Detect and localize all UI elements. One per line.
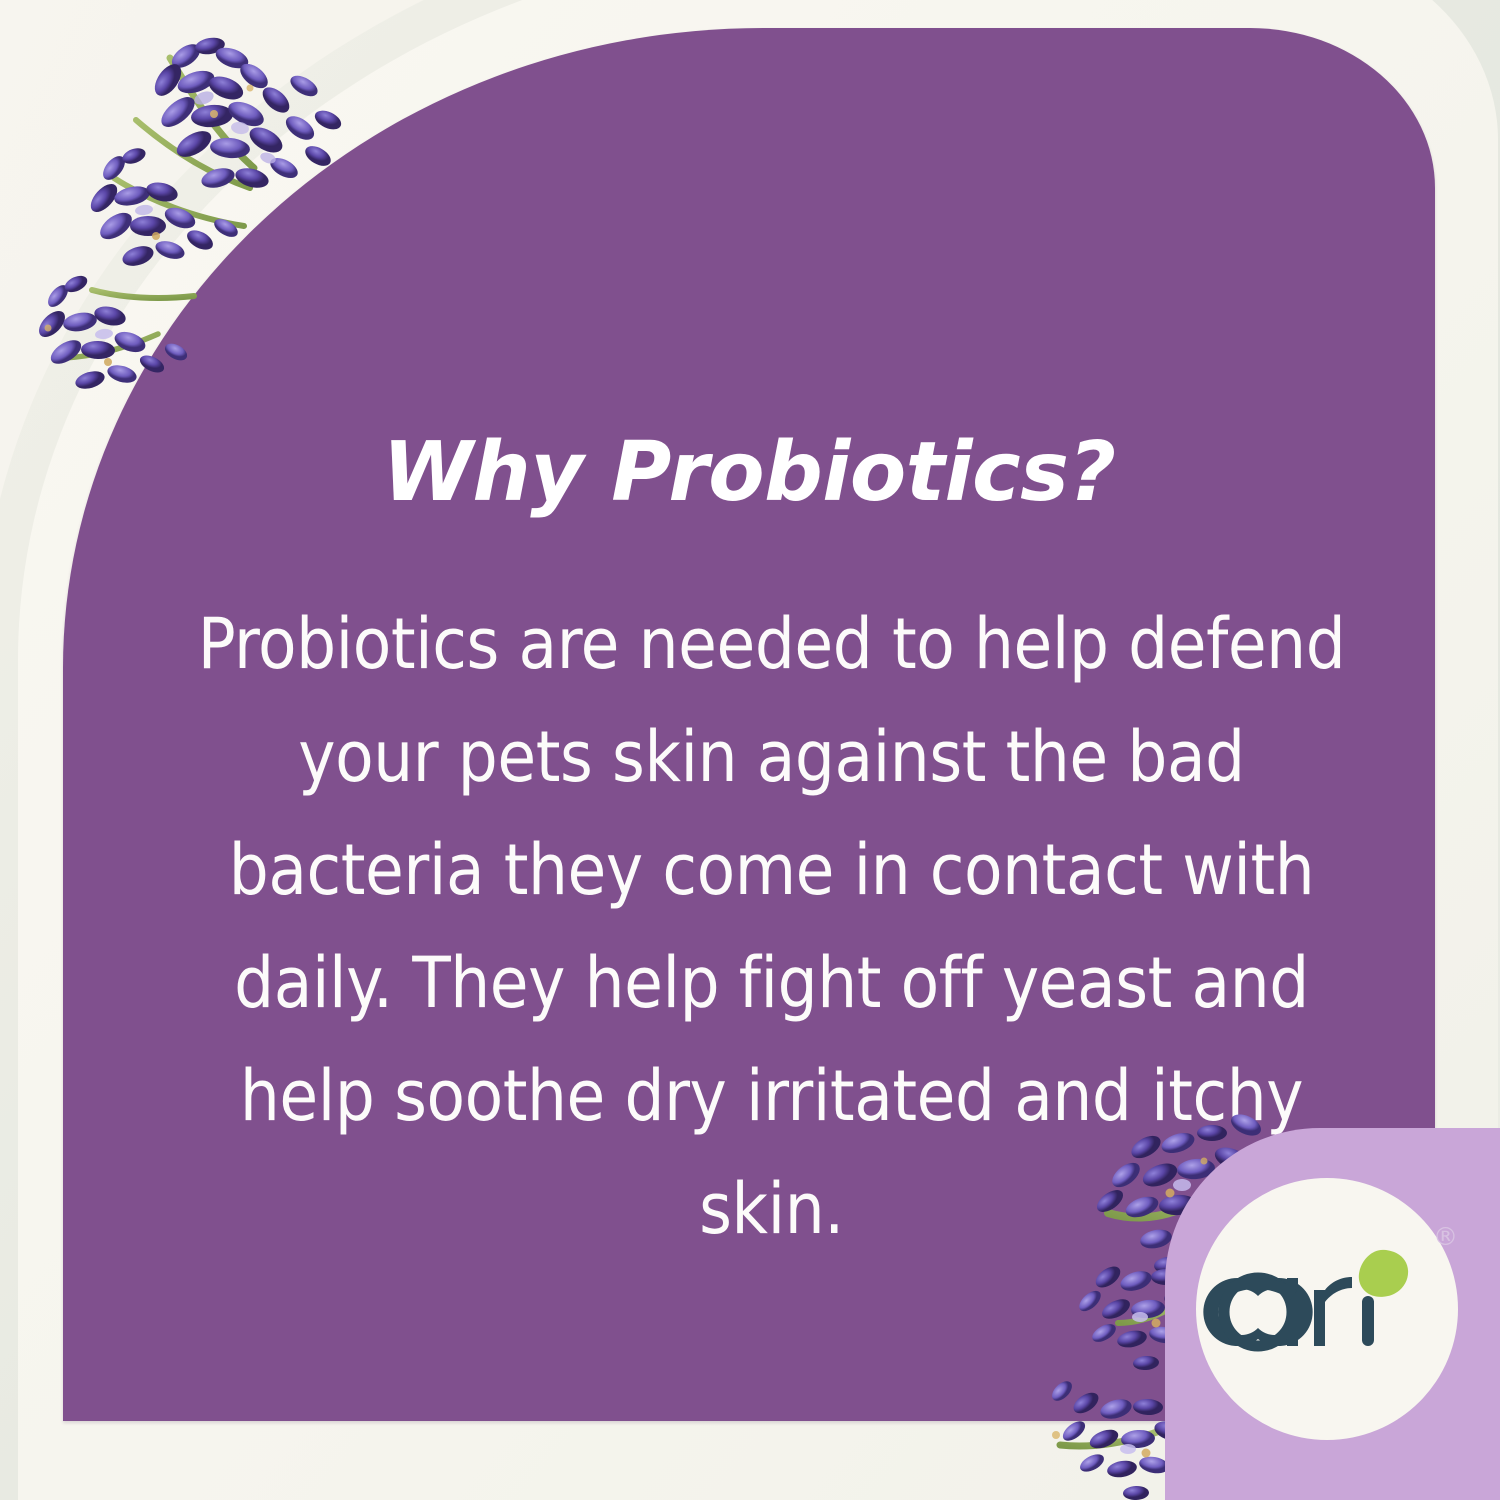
registered-trademark-symbol: ®: [1433, 1224, 1458, 1249]
page-title: Why Probiotics?: [63, 432, 1435, 514]
promo-card-canvas: Why Probiotics? Probiotics are needed to…: [0, 0, 1500, 1500]
leaf-icon: [1355, 1245, 1412, 1302]
body-paragraph: Probiotics are needed to help defend you…: [163, 588, 1380, 1266]
ari-logo-icon: [1196, 1178, 1458, 1440]
